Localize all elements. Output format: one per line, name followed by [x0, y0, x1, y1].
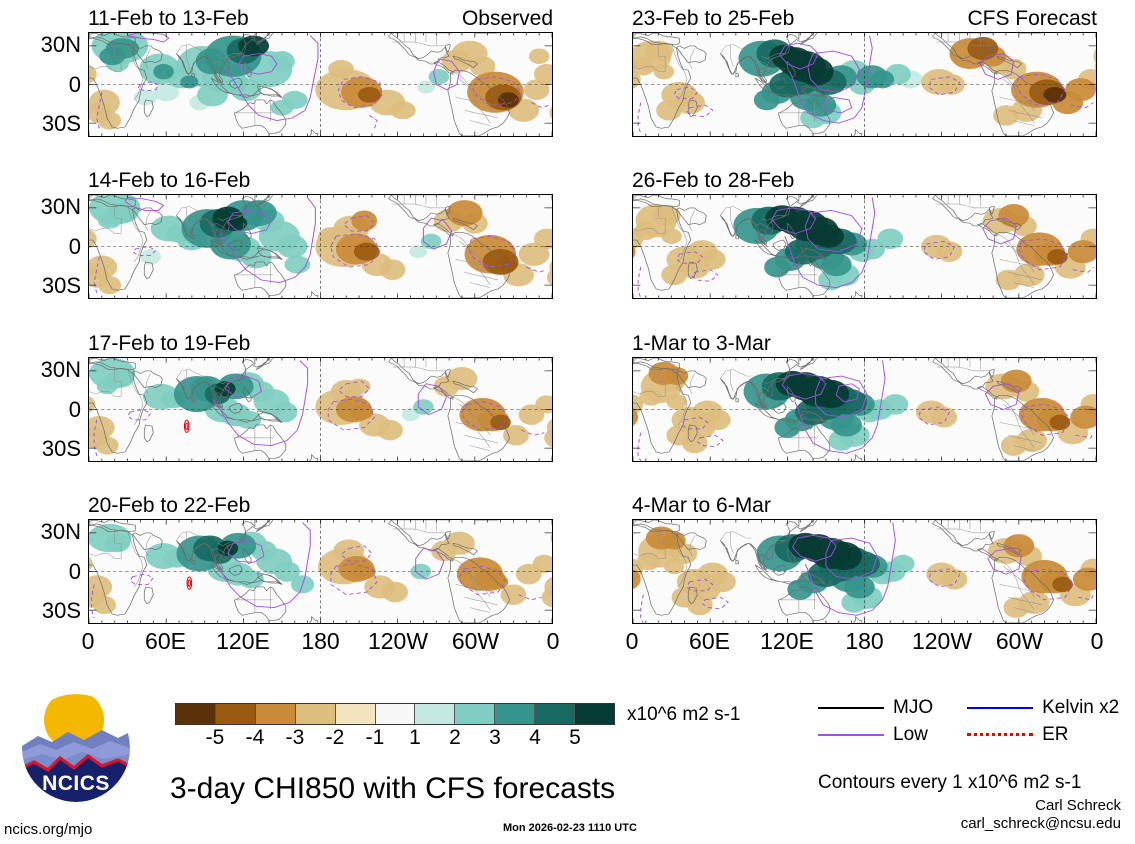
legend-label-low: Low [893, 725, 928, 744]
legend-label-mjo: MJO [893, 698, 933, 717]
y-tick-label: 0 [69, 236, 81, 258]
y-tick-label: 0 [69, 74, 81, 96]
panel-1: 11-Feb to 13-FebObserved30N030S [88, 8, 553, 137]
colorbar-cell [336, 704, 376, 724]
x-tick-label: 0 [547, 630, 560, 653]
map-plot [633, 520, 1096, 623]
y-tick-label: 30S [42, 113, 81, 135]
y-tick-label: 30S [42, 275, 81, 297]
x-tick-label: 60W [452, 630, 499, 653]
colorbar-tick-label: 5 [569, 727, 581, 748]
legend-line-kelvin [967, 707, 1033, 709]
colorbar-cell [575, 704, 614, 724]
map-frame [632, 32, 1097, 137]
colorbar-tick-label: -3 [286, 727, 305, 748]
colorbar-cell [415, 704, 455, 724]
map-plot [633, 358, 1096, 461]
panel-title: 17-Feb to 19-Feb [88, 333, 250, 354]
legend-line-er [967, 733, 1033, 736]
legend-label-er: ER [1042, 725, 1068, 744]
colorbar-tick-label: -4 [246, 727, 265, 748]
author-credit: Carl Schreck carl_schreck@ncsu.edu [961, 797, 1121, 833]
x-tick-label: 180 [845, 630, 883, 653]
y-tick-label: 30N [41, 359, 81, 381]
ncics-logo-graphic: NCICS [22, 694, 130, 802]
panel-7: 1-Mar to 3-Mar [632, 333, 1097, 462]
y-tick-label: 30S [42, 600, 81, 622]
legend-item-low: Low [818, 725, 933, 744]
panel-2: 14-Feb to 16-Feb30N030S [88, 170, 553, 299]
colorbar-tick-label: 2 [449, 727, 461, 748]
contour-interval-note: Contours every 1 x10^6 m2 s-1 [818, 773, 1081, 792]
colorbar-tick-label: 3 [489, 727, 501, 748]
timestamp: Mon 2026-02-23 1110 UTC [503, 823, 637, 834]
panel-title: 4-Mar to 6-Mar [632, 495, 771, 516]
colorbar-swatches [175, 703, 615, 725]
y-tick-label: 30N [41, 196, 81, 218]
x-axis-left: 060E120E180120W60W0 [88, 630, 553, 660]
contour-legend: MJO Kelvin x2 Low ER [818, 698, 1119, 744]
colorbar-cell [495, 704, 535, 724]
colorbar-cell [216, 704, 256, 724]
panel-title: 14-Feb to 16-Feb [88, 170, 250, 191]
x-tick-label: 60W [996, 630, 1043, 653]
colorbar-cell [376, 704, 416, 724]
colorbar-tick-label: -1 [366, 727, 385, 748]
map-plot [89, 195, 552, 298]
colorbar-cell [256, 704, 296, 724]
map-plot [633, 33, 1096, 136]
legend-line-low [818, 734, 884, 736]
colorbar-cell [296, 704, 336, 724]
panel-title: 1-Mar to 3-Mar [632, 333, 771, 354]
map-frame [632, 357, 1097, 462]
map-plot [89, 33, 552, 136]
panel-title: 26-Feb to 28-Feb [632, 170, 794, 191]
colorbar-tick-label: 4 [529, 727, 541, 748]
x-tick-label: 0 [626, 630, 639, 653]
colorbar-tick-label: -2 [326, 727, 345, 748]
y-tick-label: 30S [42, 438, 81, 460]
svg-text:NCICS: NCICS [42, 772, 110, 795]
x-tick-label: 180 [301, 630, 339, 653]
x-tick-label: 120W [912, 630, 972, 653]
legend-item-kelvin: Kelvin x2 [967, 698, 1119, 717]
site-url: ncics.org/mjo [4, 822, 92, 837]
ncics-logo: NCICS [22, 694, 130, 802]
panel-3: 17-Feb to 19-Feb30N030S [88, 333, 553, 462]
x-tick-label: 60E [689, 630, 730, 653]
colorbar-cell [176, 704, 216, 724]
y-tick-label: 30N [41, 521, 81, 543]
map-plot [89, 520, 552, 623]
panel-title: 20-Feb to 22-Feb [88, 495, 250, 516]
panel-5: 23-Feb to 25-FebCFS Forecast [632, 8, 1097, 137]
map-frame [632, 194, 1097, 299]
map-frame [88, 194, 553, 299]
x-tick-label: 60E [145, 630, 186, 653]
map-plot [633, 195, 1096, 298]
x-tick-label: 0 [82, 630, 95, 653]
colorbar-ticks: -5-4-3-2-112345 [175, 725, 615, 751]
x-tick-label: 120E [760, 630, 814, 653]
panel-6: 26-Feb to 28-Feb [632, 170, 1097, 299]
x-axis-right: 060E120E180120W60W0 [632, 630, 1097, 660]
map-plot [89, 358, 552, 461]
panel-4: 20-Feb to 22-Feb30N030S [88, 495, 553, 624]
colorbar-tick-label: -5 [206, 727, 225, 748]
colorbar: -5-4-3-2-112345 x10^6 m2 s-1 [175, 703, 615, 751]
colorbar-cell [455, 704, 495, 724]
x-tick-label: 0 [1091, 630, 1104, 653]
colorbar-cell [535, 704, 575, 724]
page-title: 3-day CHI850 with CFS forecasts [170, 774, 615, 804]
legend-item-er: ER [967, 725, 1119, 744]
colorbar-tick-label: 1 [409, 727, 421, 748]
legend-label-kelvin: Kelvin x2 [1042, 698, 1119, 717]
x-tick-label: 120E [216, 630, 270, 653]
panel-8: 4-Mar to 6-Mar [632, 495, 1097, 624]
panel-title: 23-Feb to 25-Feb [632, 8, 794, 29]
panel-title: 11-Feb to 13-Feb [88, 8, 249, 29]
map-frame [88, 357, 553, 462]
author-name: Carl Schreck [961, 797, 1121, 815]
y-tick-label: 30N [41, 34, 81, 56]
legend-item-mjo: MJO [818, 698, 933, 717]
panel-column-header: Observed [462, 8, 553, 29]
y-tick-label: 0 [69, 399, 81, 421]
map-frame [88, 32, 553, 137]
map-frame [632, 519, 1097, 624]
y-tick-label: 0 [69, 561, 81, 583]
author-email: carl_schreck@ncsu.edu [961, 815, 1121, 833]
colorbar-units-label: x10^6 m2 s-1 [627, 704, 740, 726]
x-tick-label: 120W [368, 630, 428, 653]
panel-column-header: CFS Forecast [967, 8, 1097, 29]
legend-line-mjo [818, 707, 884, 709]
map-frame [88, 519, 553, 624]
